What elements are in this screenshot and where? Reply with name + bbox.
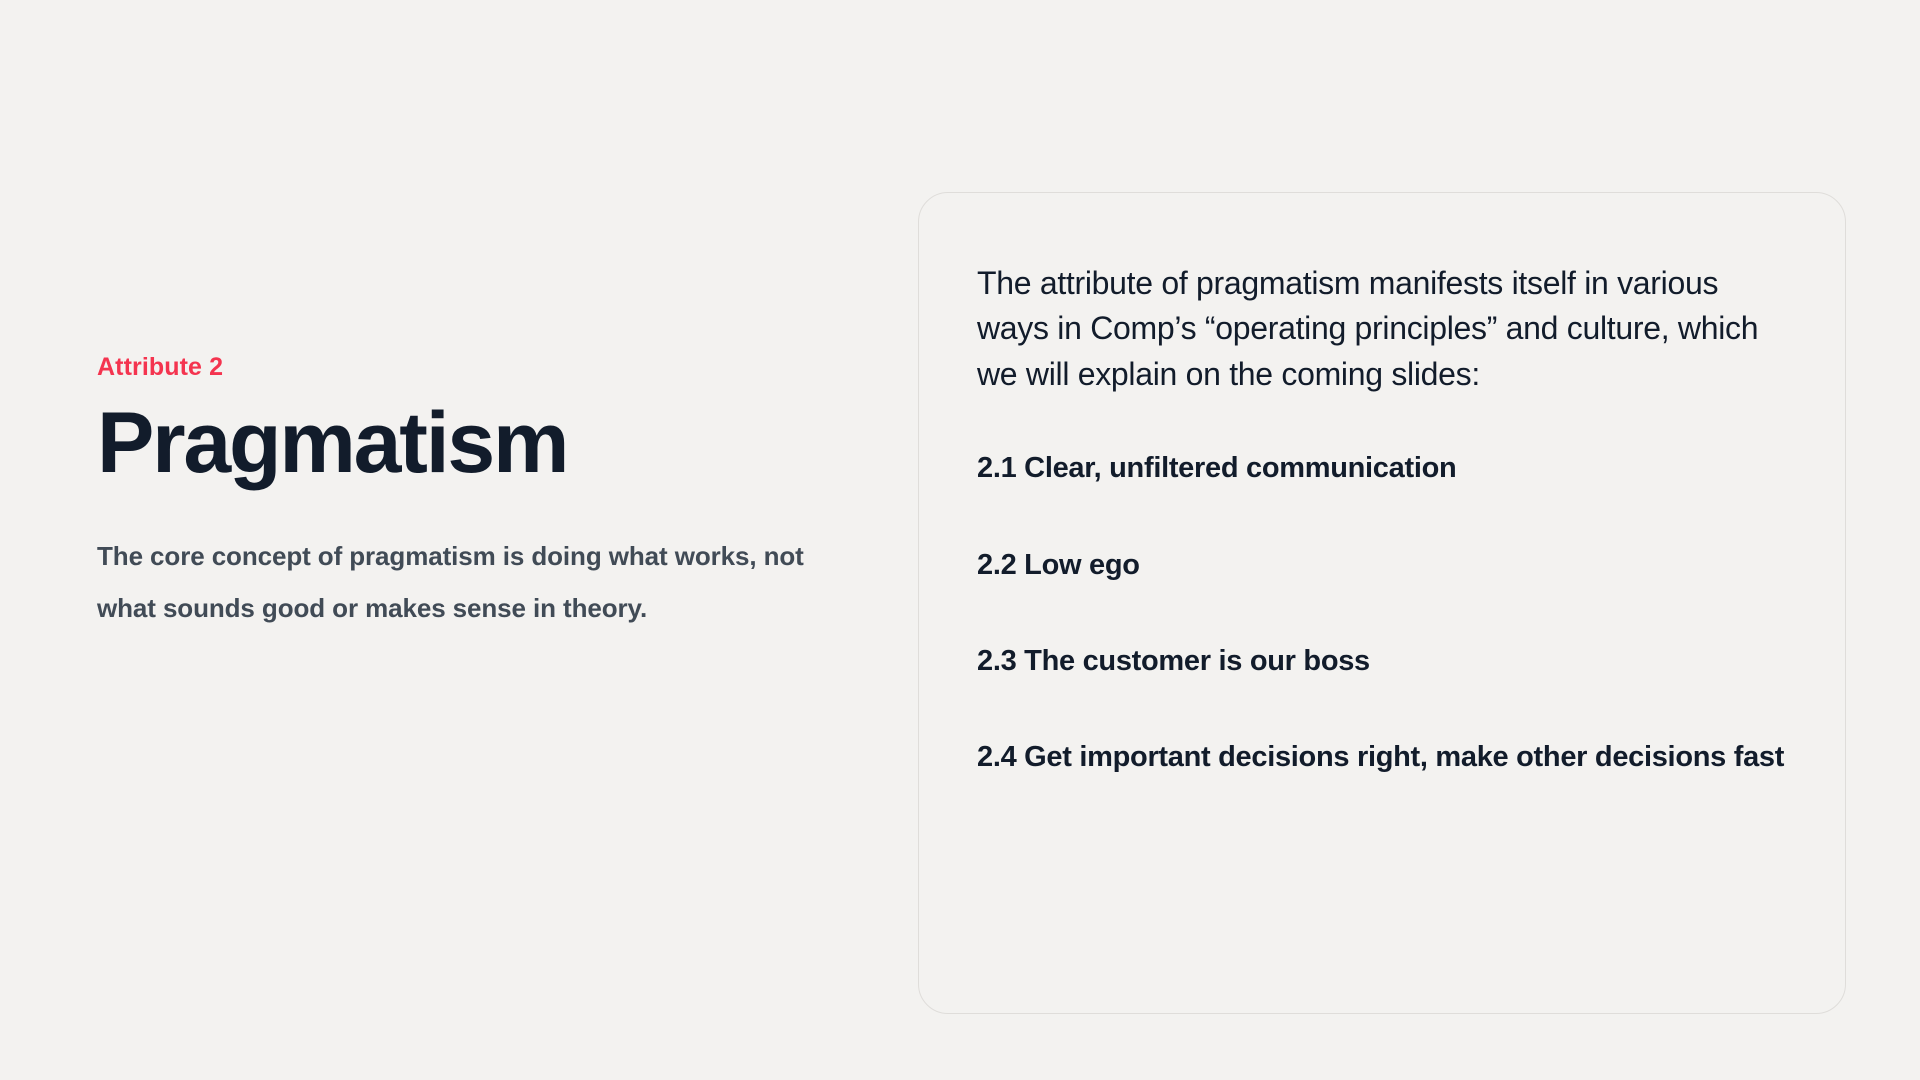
page-title: Pragmatism xyxy=(97,400,837,486)
list-item: 2.1 Clear, unfiltered communication xyxy=(977,449,1793,487)
card-intro-paragraph: The attribute of pragmatism manifests it… xyxy=(977,261,1793,397)
details-card: The attribute of pragmatism manifests it… xyxy=(918,192,1846,1014)
principles-list: 2.1 Clear, unfiltered communication 2.2 … xyxy=(977,449,1793,776)
list-item: 2.2 Low ego xyxy=(977,546,1793,584)
list-item: 2.4 Get important decisions right, make … xyxy=(977,738,1793,776)
details-card-content: The attribute of pragmatism manifests it… xyxy=(977,261,1793,776)
left-content-column: Attribute 2 Pragmatism The core concept … xyxy=(97,352,837,634)
list-item: 2.3 The customer is our boss xyxy=(977,642,1793,680)
page-subtitle: The core concept of pragmatism is doing … xyxy=(97,530,817,634)
slide-root: Attribute 2 Pragmatism The core concept … xyxy=(0,0,1920,1080)
attribute-eyebrow-label: Attribute 2 xyxy=(97,352,837,382)
